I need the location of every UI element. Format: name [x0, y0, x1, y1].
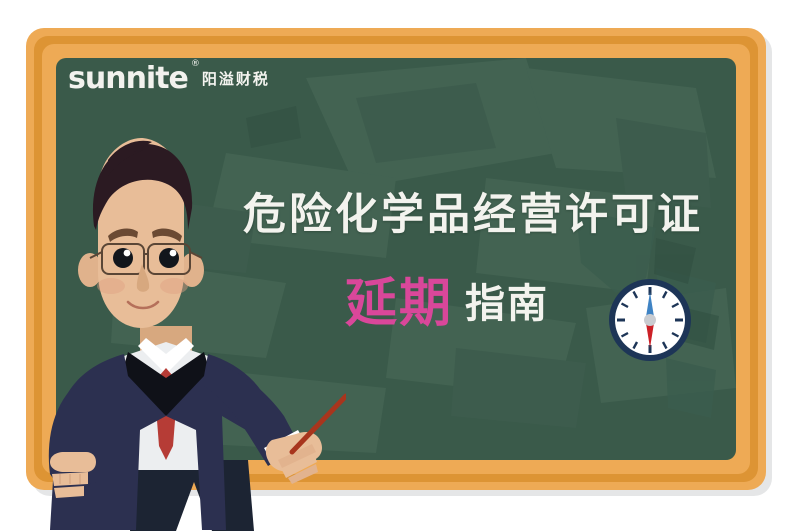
- logo-chinese-name: 阳溢财税: [202, 72, 270, 87]
- subtitle-accent: 延期: [345, 278, 453, 330]
- character-right-hand: [266, 432, 322, 484]
- subtitle-rest: 指南: [465, 284, 549, 324]
- character-left-eye-glint: [124, 250, 131, 257]
- character-right-blush: [160, 278, 188, 294]
- teacher-illustration: [16, 130, 346, 531]
- character-left-eye: [113, 248, 133, 268]
- compass-icon: [608, 278, 692, 362]
- registered-trademark-icon: ®: [191, 60, 199, 69]
- compass-hub: [644, 314, 656, 326]
- character-left-blush: [97, 278, 125, 294]
- logo-wordmark: sunnite ®: [68, 64, 188, 94]
- character-right-eye: [159, 248, 179, 268]
- character-right-eye-glint: [170, 250, 177, 257]
- poster-canvas: sunnite ® 阳溢财税 危险化学品经营许可证 延期 指南: [0, 0, 800, 531]
- subtitle: 延期 指南: [345, 278, 549, 330]
- character-trousers: [130, 460, 254, 531]
- brand-logo: sunnite ® 阳溢财税: [68, 64, 270, 94]
- logo-wordmark-text: sunnite: [68, 61, 188, 96]
